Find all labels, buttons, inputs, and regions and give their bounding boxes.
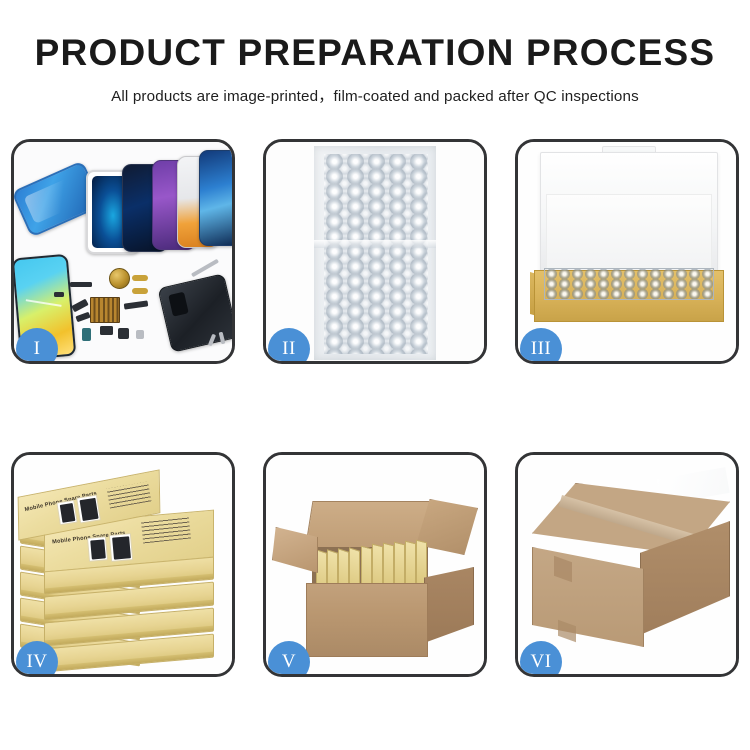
- process-step-1[interactable]: I: [11, 139, 235, 364]
- ic-chip-part: [90, 297, 120, 323]
- box-phone-image-1: [56, 500, 77, 526]
- step-5-illustration: [266, 455, 484, 674]
- bubble-wrapped-contents: [544, 268, 714, 300]
- sensor-part: [118, 328, 129, 339]
- battery-part: [82, 328, 91, 341]
- box-phone-image-4: [109, 533, 133, 562]
- process-step-6[interactable]: VI: [515, 452, 739, 677]
- carton-front-panel: [306, 583, 428, 657]
- step-4-illustration: Mobile Phone Spare Parts Mobile Phone Sp…: [14, 455, 232, 674]
- step-badge-5: V: [268, 641, 310, 677]
- step-6-illustration: [518, 455, 736, 674]
- process-step-5[interactable]: V: [263, 452, 487, 677]
- box-phone-image-3: [87, 536, 108, 562]
- box-phone-image-2: [76, 495, 101, 524]
- wrap-fold-line: [314, 240, 436, 248]
- header: PRODUCT PREPARATION PROCESS All products…: [0, 0, 750, 106]
- step-2-illustration: [266, 142, 484, 361]
- page-subtitle: All products are image-printed，film-coat…: [0, 84, 750, 106]
- process-step-3[interactable]: III: [515, 139, 739, 364]
- step-1-illustration: [14, 142, 232, 361]
- packed-box-item: [394, 542, 405, 589]
- flex-cable-part-1: [132, 275, 148, 281]
- step-badge-4: IV: [16, 641, 58, 677]
- small-part: [54, 292, 64, 297]
- packed-box-item: [405, 541, 416, 588]
- page-title: PRODUCT PREPARATION PROCESS: [0, 34, 750, 73]
- step-badge-2: II: [268, 328, 310, 364]
- step-3-illustration: [518, 142, 736, 361]
- phone-blue-streak: [199, 150, 232, 246]
- flex-cable-part-2: [132, 288, 148, 294]
- step-badge-1: I: [16, 328, 58, 364]
- foam-padding: [546, 194, 712, 272]
- process-steps-grid: I II III: [11, 139, 739, 677]
- step-badge-6: VI: [520, 641, 562, 677]
- bubble-pattern-overlay: [324, 154, 428, 354]
- process-step-2[interactable]: II: [263, 139, 487, 364]
- process-step-4[interactable]: Mobile Phone Spare Parts Mobile Phone Sp…: [11, 452, 235, 677]
- vibration-motor-part: [109, 268, 130, 289]
- camera-module-part: [100, 326, 113, 335]
- step-badge-3: III: [520, 328, 562, 364]
- speaker-part: [70, 282, 92, 287]
- metal-bracket-part: [136, 330, 144, 339]
